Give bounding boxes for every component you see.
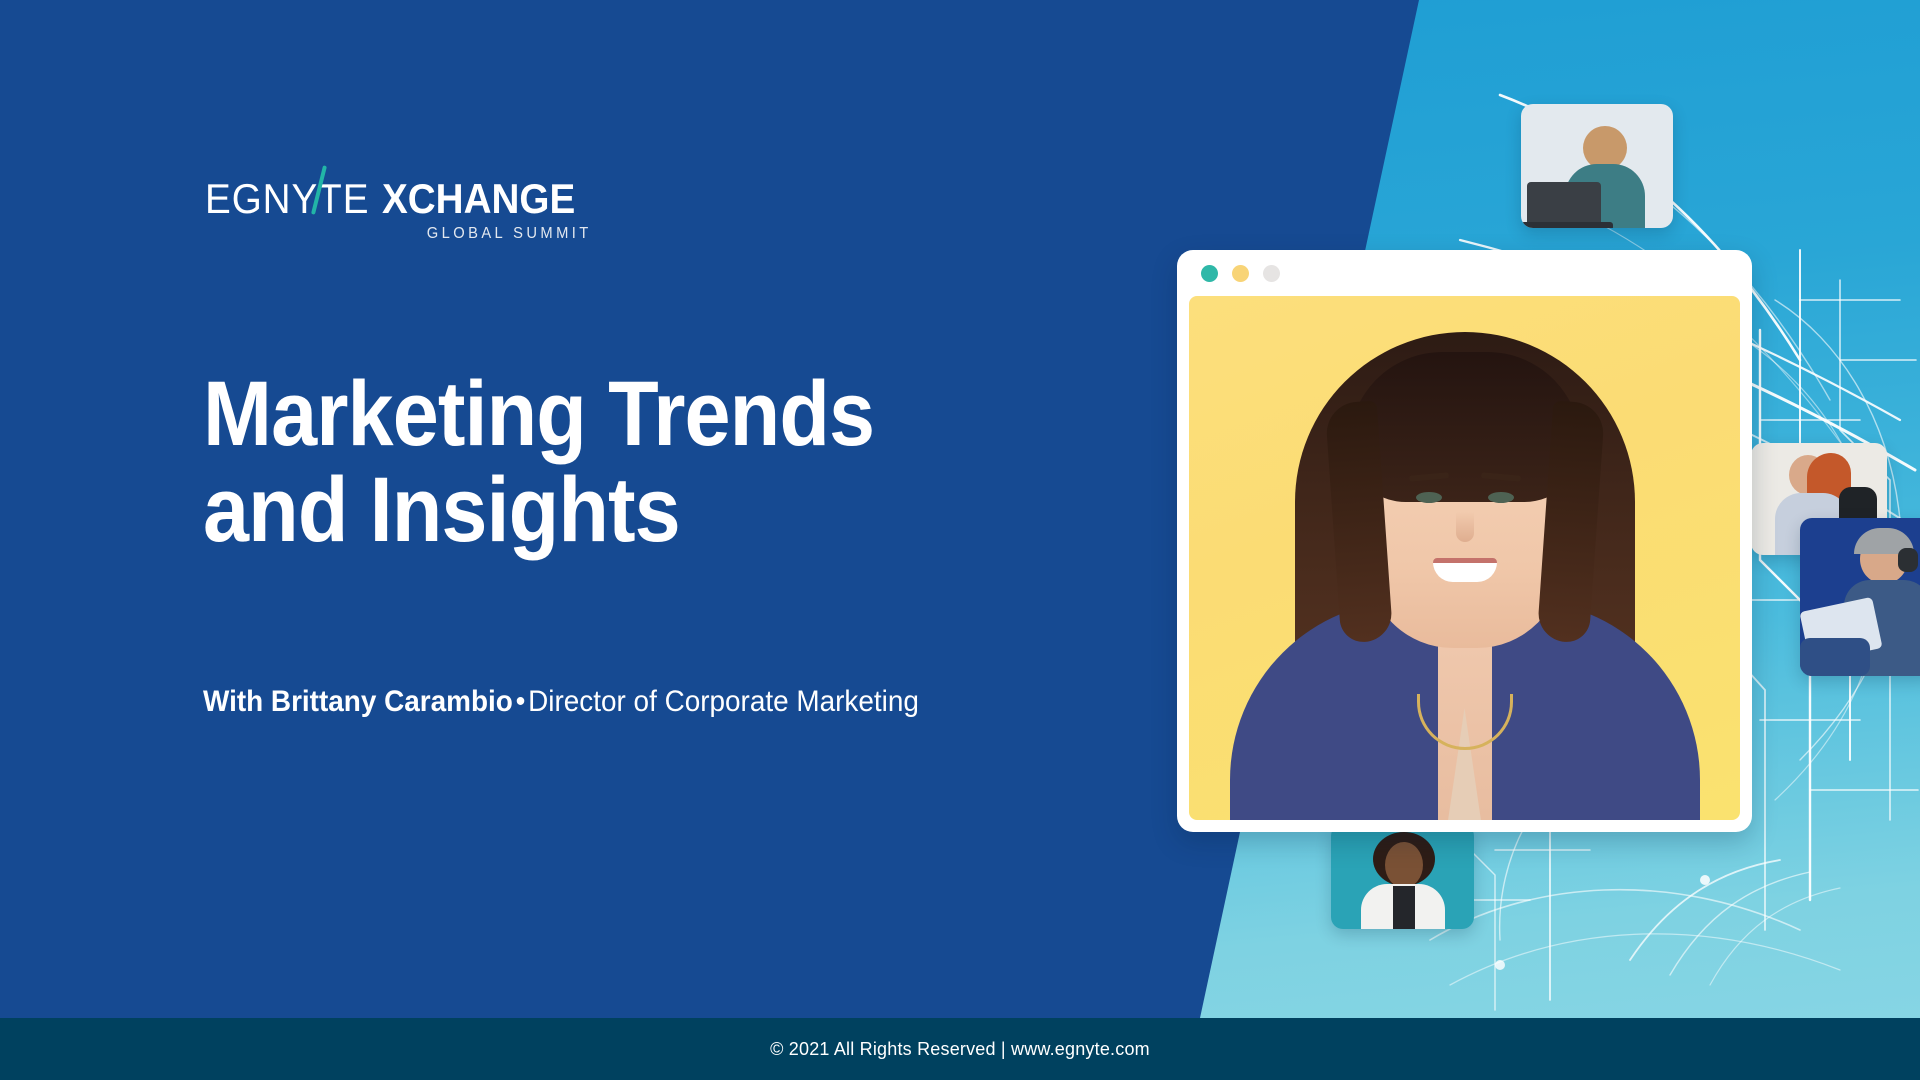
byline-separator: • — [513, 685, 528, 718]
speaker-name: With Brittany Carambio — [203, 685, 513, 718]
thumbnail-woman-laptop — [1521, 104, 1673, 228]
thumbnail-woman-teal — [1331, 824, 1474, 929]
page-title: Marketing Trends and Insights — [203, 367, 1013, 558]
presentation-slide: EGNYTE XCHANGE GLOBAL SUMMIT Marketing T… — [0, 0, 1920, 1080]
browser-title-bar — [1177, 250, 1752, 296]
logo-secondary-text: XCHANGE — [382, 178, 575, 220]
speaker-photo — [1189, 296, 1740, 820]
traffic-light-green-icon[interactable] — [1201, 265, 1218, 282]
speaker-byline: With Brittany Carambio•Director of Corpo… — [203, 684, 919, 720]
egnyte-xchange-logo: EGNYTE XCHANGE GLOBAL SUMMIT — [205, 178, 592, 243]
page-title-line-1: Marketing Trends — [203, 363, 874, 465]
browser-window-mock — [1177, 250, 1752, 832]
speaker-role: Director of Corporate Marketing — [528, 685, 919, 718]
logo-tagline: GLOBAL SUMMIT — [224, 225, 591, 243]
logo-primary-text: EGNYTE — [205, 178, 369, 220]
traffic-light-yellow-icon[interactable] — [1232, 265, 1249, 282]
thumbnail-man-headset — [1800, 518, 1920, 676]
traffic-light-grey-icon[interactable] — [1263, 265, 1280, 282]
footer-bar: © 2021 All Rights Reserved | www.egnyte.… — [0, 1018, 1920, 1080]
page-title-line-2: and Insights — [203, 459, 680, 561]
speaker-portrait-illustration — [1189, 296, 1740, 820]
footer-copyright: © 2021 All Rights Reserved | www.egnyte.… — [770, 1039, 1150, 1060]
